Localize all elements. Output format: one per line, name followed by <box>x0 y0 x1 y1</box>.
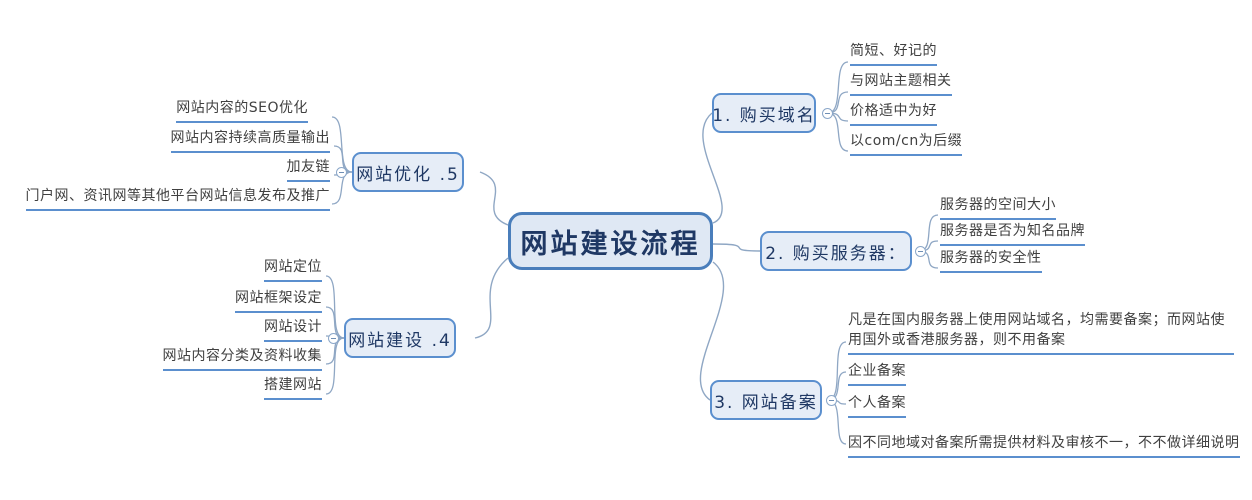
leaf-site-build-0: 网站定位 <box>264 258 322 282</box>
leaf-site-filing-3: 因不同地域对备案所需提供材料及审核不一，不不做详细说明 <box>848 434 1240 458</box>
leaf-buy-server-1: 服务器是否为知名品牌 <box>940 222 1085 246</box>
branch-node-site-build[interactable]: 网站建设 .4 <box>344 318 456 358</box>
root-node[interactable]: 网站建设流程 <box>508 212 713 270</box>
branch-label-site-optimize: 网站优化 .5 <box>356 160 460 185</box>
leaf-site-build-2: 网站设计 <box>264 318 322 342</box>
branch-label-site-build: 网站建设 .4 <box>348 326 452 351</box>
branch-label-buy-domain: 1. 购买域名 <box>712 101 816 126</box>
branch-label-buy-server: 2. 购买服务器： <box>765 239 907 264</box>
leaf-buy-domain-1: 与网站主题相关 <box>850 72 952 96</box>
mindmap-canvas: 网站建设流程 1. 购买域名 简短、好记的 与网站主题相关 价格适中为好 以co… <box>0 0 1252 500</box>
branch-node-site-filing[interactable]: 3. 网站备案 <box>710 380 822 420</box>
leaf-buy-server-0: 服务器的空间大小 <box>940 196 1056 220</box>
leaf-buy-domain-0: 简短、好记的 <box>850 42 937 66</box>
collapse-toggle-buy-server[interactable] <box>915 246 926 257</box>
branch-node-buy-server[interactable]: 2. 购买服务器： <box>760 231 912 271</box>
collapse-toggle-buy-domain[interactable] <box>822 108 833 119</box>
leaf-buy-domain-2: 价格适中为好 <box>850 102 937 126</box>
collapse-toggle-site-optimize[interactable] <box>336 167 347 178</box>
collapse-toggle-site-build[interactable] <box>328 333 339 344</box>
branch-node-site-optimize[interactable]: 网站优化 .5 <box>352 152 464 192</box>
leaf-buy-server-2: 服务器的安全性 <box>940 249 1042 273</box>
leaf-site-build-1: 网站框架设定 <box>235 289 322 313</box>
branch-node-buy-domain[interactable]: 1. 购买域名 <box>712 93 816 133</box>
leaf-site-filing-2: 个人备案 <box>848 394 906 418</box>
leaf-site-build-3: 网站内容分类及资料收集 <box>163 347 323 371</box>
branch-label-site-filing: 3. 网站备案 <box>714 388 818 413</box>
leaf-site-optimize-2: 加友链 <box>287 158 331 182</box>
leaf-site-optimize-1: 网站内容持续高质量输出 <box>171 129 331 153</box>
leaf-site-filing-1: 企业备案 <box>848 362 906 386</box>
leaf-site-build-4: 搭建网站 <box>264 376 322 400</box>
leaf-site-optimize-0: 网站内容的SEO优化 <box>176 99 308 123</box>
leaf-site-filing-0: 凡是在国内服务器上使用网站域名，均需要备案；而网站使用国外或香港服务器，则不用备… <box>848 310 1234 355</box>
collapse-toggle-site-filing[interactable] <box>826 395 837 406</box>
leaf-site-optimize-3: 门户网、资讯网等其他平台网站信息发布及推广 <box>26 187 331 211</box>
leaf-buy-domain-3: 以com/cn为后缀 <box>850 132 962 156</box>
root-node-label: 网站建设流程 <box>521 222 701 261</box>
